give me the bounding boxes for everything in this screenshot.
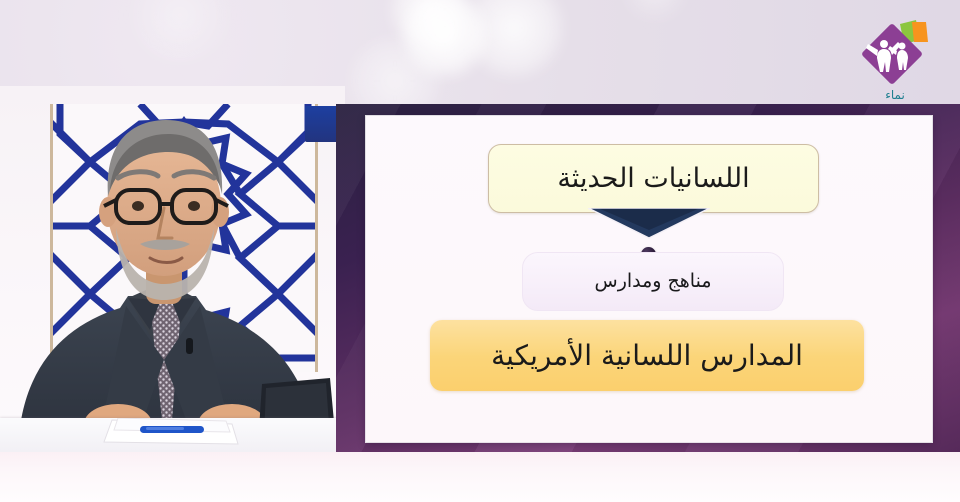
slide-node-subtitle[interactable]: مناهج ومدارس bbox=[522, 252, 784, 311]
slide-flow-diagram: اللسانيات الحديثة مناهج ومدارس المدارس ا… bbox=[366, 116, 932, 442]
lower-third-strip bbox=[0, 452, 960, 502]
slide-node-main-topic[interactable]: اللسانيات الحديثة bbox=[488, 144, 819, 213]
namaa-logo[interactable]: نماء bbox=[856, 18, 934, 102]
slide-node-subtitle-label: مناهج ومدارس bbox=[595, 270, 712, 294]
presentation-slide: اللسانيات الحديثة مناهج ومدارس المدارس ا… bbox=[366, 116, 932, 442]
namaa-logo-wordmark: نماء bbox=[856, 88, 934, 102]
slide-node-current-section-label: المدارس اللسانية الأمريكية bbox=[491, 338, 803, 373]
slide-node-main-topic-label: اللسانيات الحديثة bbox=[557, 162, 749, 196]
slide-node-current-section[interactable]: المدارس اللسانية الأمريكية bbox=[430, 320, 864, 391]
presenter-speaker bbox=[0, 0, 345, 452]
presenter-desk bbox=[0, 418, 345, 452]
broadcast-frame: اللسانيات الحديثة مناهج ومدارس المدارس ا… bbox=[0, 0, 960, 502]
namaa-logo-icon bbox=[856, 18, 934, 90]
panel-blue-notch bbox=[305, 106, 339, 142]
